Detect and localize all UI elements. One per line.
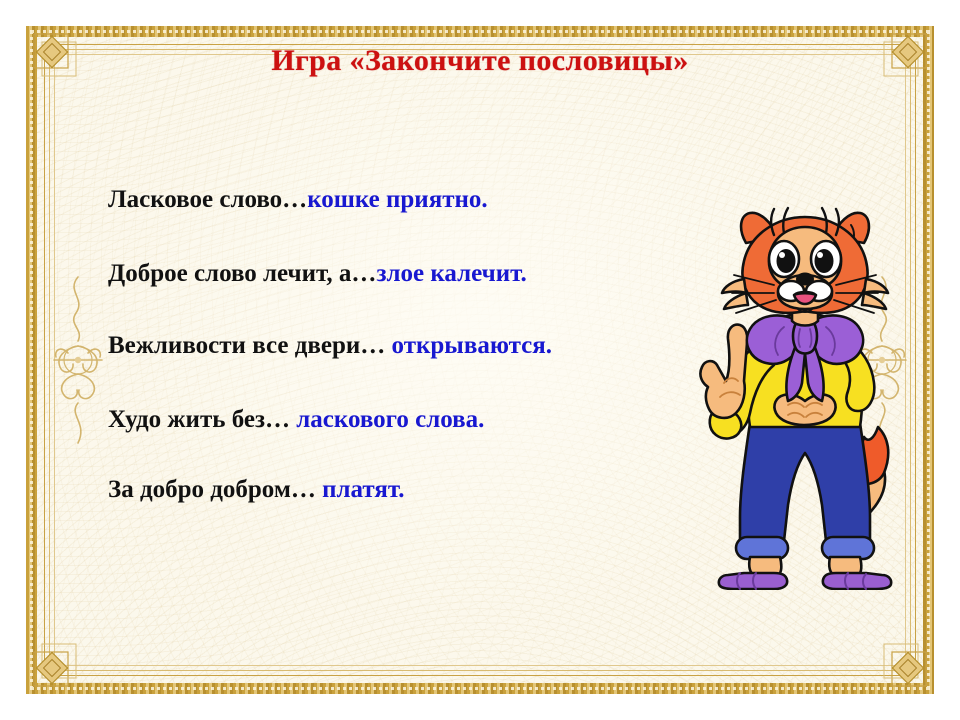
- proverb-answer: ласкового слова.: [296, 406, 484, 433]
- cartoon-cat-icon: [688, 205, 922, 590]
- proverb-line: Доброе слово лечит, а…злое калечит.: [108, 260, 688, 288]
- page-title: Игра «Закончите пословицы»: [0, 44, 960, 78]
- proverb-answer: открываются.: [392, 332, 553, 359]
- proverb-line: Вежливости все двери… открываются.: [108, 332, 688, 360]
- proverb-answer: платят.: [322, 476, 404, 503]
- proverb-prompt: Ласковое слово…: [108, 186, 307, 213]
- proverb-prompt: Доброе слово лечит, а…: [108, 260, 376, 287]
- proverb-prompt: Вежливости все двери…: [108, 332, 392, 359]
- proverb-prompt: За добро добром…: [108, 476, 322, 503]
- proverb-line: За добро добром… платят.: [108, 476, 688, 504]
- slide-root: Игра «Закончите пословицы» Ласковое слов…: [0, 0, 960, 720]
- proverb-line: Ласковое слово…кошке приятно.: [108, 186, 688, 214]
- proverb-answer: злое калечит.: [376, 260, 526, 287]
- proverbs-list: Ласковое слово…кошке приятно. Доброе сло…: [108, 186, 688, 504]
- proverb-answer: кошке приятно.: [307, 186, 487, 213]
- proverb-line: Худо жить без… ласкового слова.: [108, 406, 688, 434]
- proverb-prompt: Худо жить без…: [108, 406, 296, 433]
